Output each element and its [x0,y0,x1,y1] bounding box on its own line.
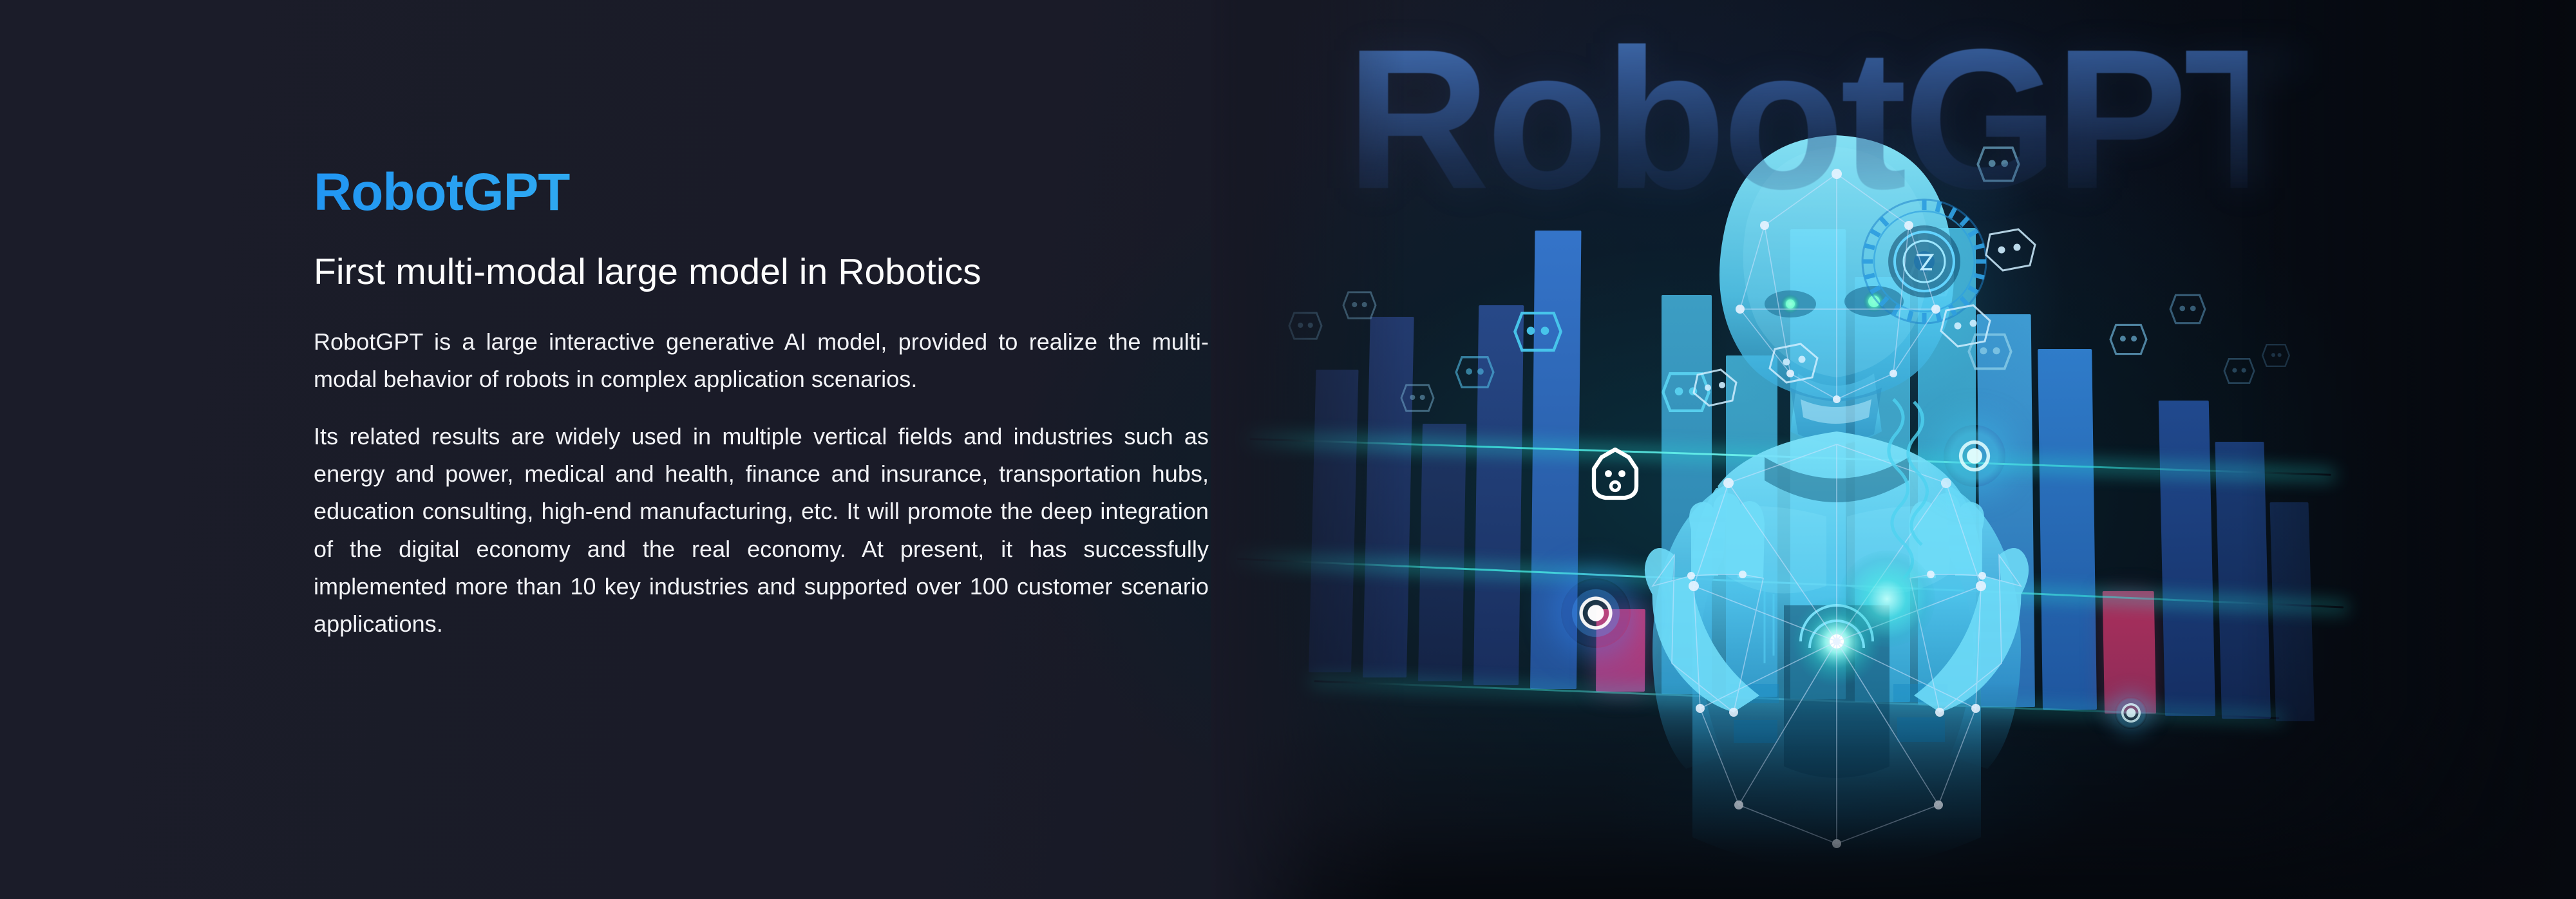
hero-banner: RobotGPT [0,0,2576,899]
chart-bar [1309,370,1358,672]
chart-bar [2159,401,2215,716]
page-title: RobotGPT [314,164,1215,222]
chart-bar-highlight [2103,591,2156,714]
robot-face-icon [2107,321,2150,358]
hero-paragraph-2: Its related results are widely used in m… [314,418,1209,643]
fingertip-ring-icon [1944,425,2005,487]
chart-bar [2270,502,2315,721]
chest-core-halo [1839,551,1935,647]
chart-bar [2215,442,2271,719]
fingertip-ring-icon [2115,697,2147,729]
hero-tagline: First multi-modal large model in Robotic… [314,250,1215,294]
hero-paragraph-1: RobotGPT is a large interactive generati… [314,323,1209,399]
robot-face-icon [2260,341,2291,370]
hero-copy: RobotGPT First multi-modal large model i… [314,164,1215,643]
robot-face-icon [1287,309,1324,343]
robot-face-icon [2168,291,2208,327]
chart-bar [1363,317,1414,677]
fingertip-ring-icon [1561,578,1631,648]
chart-bar [1418,424,1466,681]
robot-face-icon [1341,289,1378,322]
robot-face-icon [1511,308,1565,355]
background-wordmark: RobotGPT [1346,13,2248,225]
robot-face-icon [1453,353,1497,392]
robot-face-icon-highlight [1586,448,1645,502]
robot-face-icon [2222,355,2257,386]
hero-artwork: RobotGPT [1211,0,2576,899]
robot-face-icon [1399,381,1436,415]
